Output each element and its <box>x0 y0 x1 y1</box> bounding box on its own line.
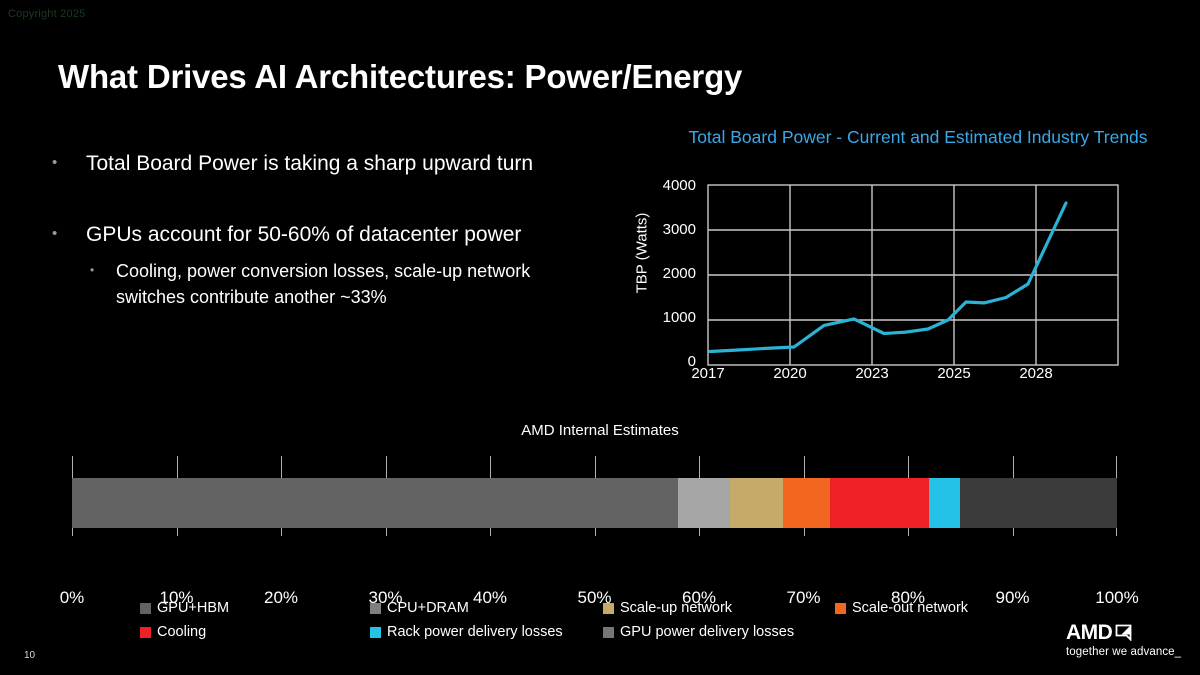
amd-arrow-icon <box>1115 624 1132 641</box>
legend-label: Scale-up network <box>620 600 732 616</box>
bullet-item-1: • Total Board Power is taking a sharp up… <box>52 150 652 177</box>
stacked-bar-track <box>72 478 1117 528</box>
legend-swatch-icon <box>603 603 614 614</box>
bullet-text: Total Board Power is taking a sharp upwa… <box>86 150 533 177</box>
grid-lines <box>708 185 1118 365</box>
legend-label: Cooling <box>157 624 206 640</box>
page-number: 10 <box>24 650 35 661</box>
legend-label: GPU power delivery losses <box>620 624 794 640</box>
legend-label: CPU+DRAM <box>387 600 469 616</box>
legend-item-cooling[interactable]: Cooling <box>140 624 206 640</box>
x-tick-2023: 2023 <box>842 365 902 382</box>
bullet-marker-icon: • <box>90 258 116 283</box>
tbp-trend-line <box>710 203 1066 352</box>
x-tick-2017: 2017 <box>678 365 738 382</box>
bar-segment-cpu-dram[interactable] <box>678 478 730 528</box>
bullet-marker-icon: • <box>52 150 86 176</box>
legend-item-scale-out-network[interactable]: Scale-out network <box>835 600 968 616</box>
x-tick-2028: 2028 <box>1006 365 1066 382</box>
legend-swatch-icon <box>370 603 381 614</box>
bar-plot-area: 0% 10% 20% 30% 40% 50% 60% 70% 80% 90% 1… <box>72 456 1117 536</box>
legend-item-rack-power-delivery-losses[interactable]: Rack power delivery losses <box>370 624 563 640</box>
legend-item-scale-up-network[interactable]: Scale-up network <box>603 600 732 616</box>
bar-x-tick-100: 100% <box>1077 588 1157 608</box>
legend-label: Scale-out network <box>852 600 968 616</box>
line-chart-plot-area <box>648 125 1188 390</box>
bar-segment-gpu-power-delivery-losses[interactable] <box>960 478 1117 528</box>
legend-swatch-icon <box>140 627 151 638</box>
x-tick-2020: 2020 <box>760 365 820 382</box>
copyright-notice: Copyright 2025 <box>8 8 85 20</box>
legend-item-cpu-dram[interactable]: CPU+DRAM <box>370 600 469 616</box>
bar-x-tick-0: 0% <box>32 588 112 608</box>
legend-swatch-icon <box>370 627 381 638</box>
x-tick-2025: 2025 <box>924 365 984 382</box>
bullet-item-2: • GPUs account for 50-60% of datacenter … <box>52 221 652 248</box>
legend-row-2: Cooling Rack power delivery losses GPU p… <box>140 624 1080 648</box>
page-title: What Drives AI Architectures: Power/Ener… <box>58 58 742 96</box>
bullet-list: • Total Board Power is taking a sharp up… <box>52 150 652 310</box>
stacked-bar-chart: AMD Internal Estimates 0% <box>0 410 1200 610</box>
bar-segment-gpu-hbm[interactable] <box>72 478 678 528</box>
legend-row-1: GPU+HBM CPU+DRAM Scale-up network Scale-… <box>140 600 1080 624</box>
legend-item-gpu-power-delivery-losses[interactable]: GPU power delivery losses <box>603 624 794 640</box>
legend-label: Rack power delivery losses <box>387 624 563 640</box>
amd-wordmark-text: AMD <box>1066 622 1112 643</box>
amd-tagline: together we advance_ <box>1066 646 1186 658</box>
legend-swatch-icon <box>140 603 151 614</box>
bar-chart-caption: AMD Internal Estimates <box>0 422 1200 439</box>
legend-swatch-icon <box>835 603 846 614</box>
bar-segment-rack-power-delivery-losses[interactable] <box>929 478 960 528</box>
bullet-text: GPUs account for 50-60% of datacenter po… <box>86 221 521 248</box>
chart-legend: GPU+HBM CPU+DRAM Scale-up network Scale-… <box>140 600 1080 648</box>
slide-canvas: Copyright 2025 10 What Drives AI Archite… <box>0 0 1200 675</box>
legend-item-gpu-hbm[interactable]: GPU+HBM <box>140 600 229 616</box>
amd-wordmark: AMD <box>1066 622 1186 643</box>
bar-segment-cooling[interactable] <box>830 478 929 528</box>
bullet-marker-icon: • <box>52 221 86 247</box>
amd-logo: AMD together we advance_ <box>1066 622 1186 658</box>
bar-segment-scale-up-network[interactable] <box>730 478 782 528</box>
bar-segment-scale-out-network[interactable] <box>783 478 830 528</box>
line-chart: Total Board Power - Current and Estimate… <box>648 125 1188 390</box>
bullet-text: Cooling, power conversion losses, scale-… <box>116 258 596 310</box>
legend-swatch-icon <box>603 627 614 638</box>
legend-label: GPU+HBM <box>157 600 229 616</box>
bullet-item-3: • Cooling, power conversion losses, scal… <box>90 258 652 310</box>
line-chart-svg <box>648 125 1188 390</box>
